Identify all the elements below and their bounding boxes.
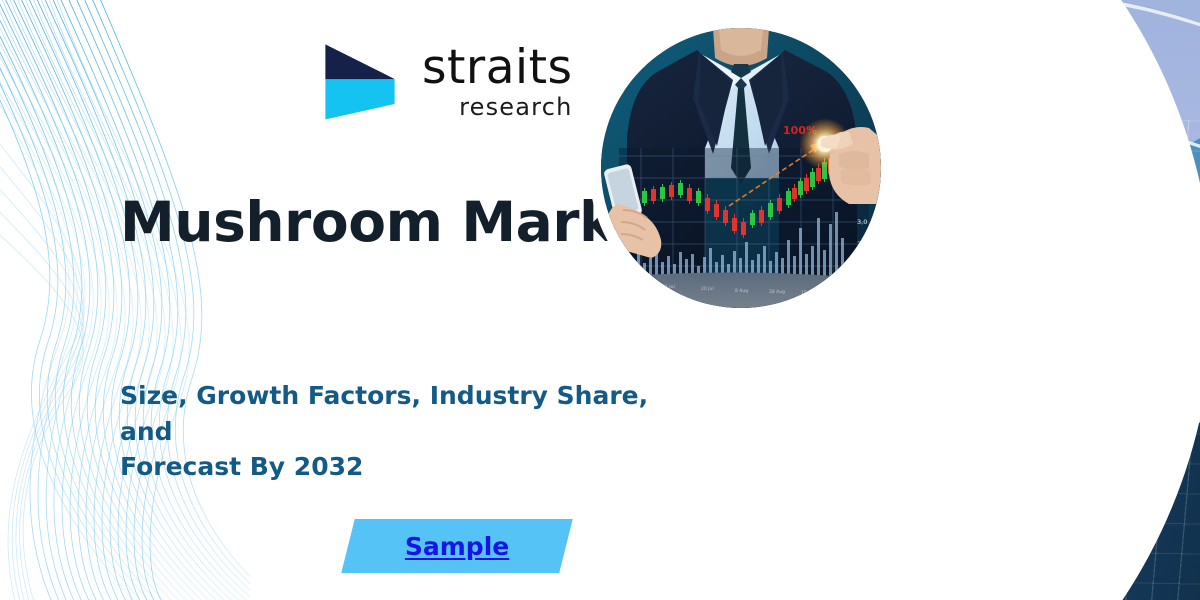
brand-name: straits (422, 44, 573, 91)
page-title: Mushroom Market (120, 190, 677, 254)
businessman-stock-chart-illustration: 100% 3,3 3,2 3,1 3,0 2,9 2,8 2,7 (601, 28, 881, 308)
hero-circle-photo: 100% 3,3 3,2 3,1 3,0 2,9 2,8 2,7 (595, 22, 887, 314)
brand-tagline: research (422, 95, 573, 119)
page-subtitle-line-1: Size, Growth Factors, Industry Share, an… (120, 378, 680, 449)
sample-button[interactable]: Sample (341, 519, 572, 573)
decorative-lineart (0, 0, 250, 600)
brand-logo[interactable]: straits research (312, 33, 573, 129)
page-subtitle-line-2: Forecast By 2032 (120, 449, 680, 485)
sample-button-label: Sample (405, 532, 509, 561)
hero-photo-inner: 100% 3,3 3,2 3,1 3,0 2,9 2,8 2,7 (601, 28, 881, 308)
svg-text:3,0: 3,0 (857, 218, 867, 226)
marketing-banner: straits research Mushroom Market Size, G… (0, 0, 1200, 600)
svg-text:1 Jul: 1 Jul (665, 284, 675, 290)
brand-wordmark: straits research (422, 44, 573, 119)
svg-text:20 Jul: 20 Jul (701, 286, 714, 292)
straits-chevron-logo-icon (312, 33, 408, 129)
svg-text:8 Aug: 8 Aug (735, 288, 748, 294)
svg-text:28 Aug: 28 Aug (769, 289, 785, 295)
page-subtitle: Size, Growth Factors, Industry Share, an… (120, 378, 680, 485)
